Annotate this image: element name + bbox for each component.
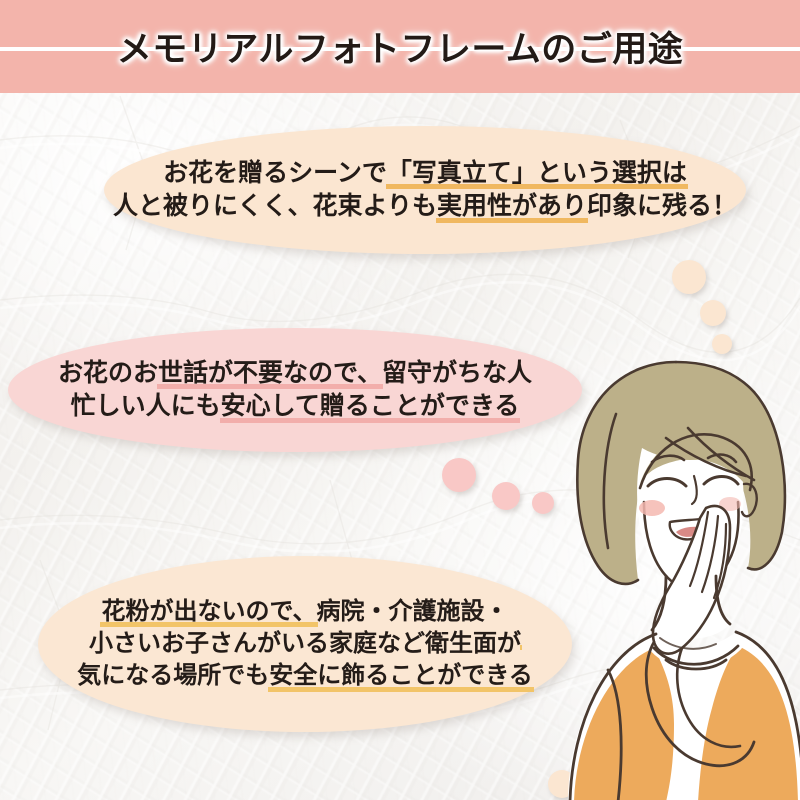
bubble-2-line-2-pre: 忙しい人にも (71, 393, 221, 420)
page-title: メモリアルフォトフレームのご用途 (0, 0, 800, 93)
bubble-3-line-3-highlight: 安全に飾ることができる (269, 660, 533, 692)
bubble-1-line-1: お花を贈るシーンで「写真立て」という選択は (163, 157, 687, 191)
speech-bubble-3: 花粉が出ないので、病院・介護施設・ 小さいお子さんがいる家庭など衛生面が 気にな… (38, 556, 572, 732)
blush-left (639, 500, 665, 516)
bubble-1-line-1-highlight: 「写真立て」という選択は (387, 157, 687, 191)
bubble-3-line-2: 小さいお子さんがいる家庭など衛生面が (89, 628, 521, 660)
bubble-tail-dot-cream-3 (712, 334, 732, 354)
bubble-3-line-1-post: 病院・介護施設・ (317, 599, 509, 625)
woman-illustration (548, 352, 800, 800)
speech-bubble-1: お花を贈るシーンで「写真立て」という選択は 人と被りにくく、花束よりも実用性があ… (104, 126, 746, 254)
bubble-1-line-2-post: 印象に残る！ (587, 193, 737, 220)
bubble-2-line-2-highlight: 安心して贈ることができる (221, 390, 520, 424)
bubble-tail-dot-cream-2 (700, 300, 726, 326)
bubble-tail-dot-pink-1 (442, 458, 476, 492)
speech-bubble-2: お花のお世話が不要なので、留守がちな人 忙しい人にも安心して贈ることができる (8, 328, 582, 452)
bubble-2-line-1-highlight: 世話が不要なので、 (158, 357, 382, 391)
bubble-3-line-2-pre: 小さいお子さんがいる家庭など衛生面が (89, 631, 521, 657)
bubble-2-line-1-post: 留守がちな人 (382, 360, 532, 387)
woman-illustration-svg (548, 352, 800, 800)
bubble-1-line-2-highlight: 実用性があり (437, 190, 587, 224)
bubble-2-line-1: お花のお世話が不要なので、留守がちな人 (58, 357, 532, 391)
bubble-1-line-2-pre: 人と被りにくく、花束よりも (113, 193, 437, 220)
header-banner: メモリアルフォトフレームのご用途 (0, 0, 800, 93)
bubble-1-line-1-pre: お花を贈るシーンで (163, 160, 387, 187)
promo-banner-page: メモリアルフォトフレームのご用途 お花を贈るシーンで「写真立て」という選択は 人… (0, 0, 800, 800)
bubble-tail-dot-cream-1 (672, 260, 706, 294)
bubble-1-line-2: 人と被りにくく、花束よりも実用性があり印象に残る！ (113, 190, 737, 224)
bubble-2-line-2: 忙しい人にも安心して贈ることができる (71, 390, 520, 424)
bubble-3-line-1: 花粉が出ないので、病院・介護施設・ (101, 596, 508, 628)
bubble-2-line-1-pre: お花のお (58, 360, 158, 387)
bubble-3-line-1-highlight: 花粉が出ないので、 (101, 596, 316, 628)
bubble-3-line-3: 気になる場所でも安全に飾ることができる (77, 660, 533, 692)
bubble-tail-dot-pink-2 (492, 482, 520, 510)
bubble-3-line-3-pre: 気になる場所でも (77, 663, 269, 689)
